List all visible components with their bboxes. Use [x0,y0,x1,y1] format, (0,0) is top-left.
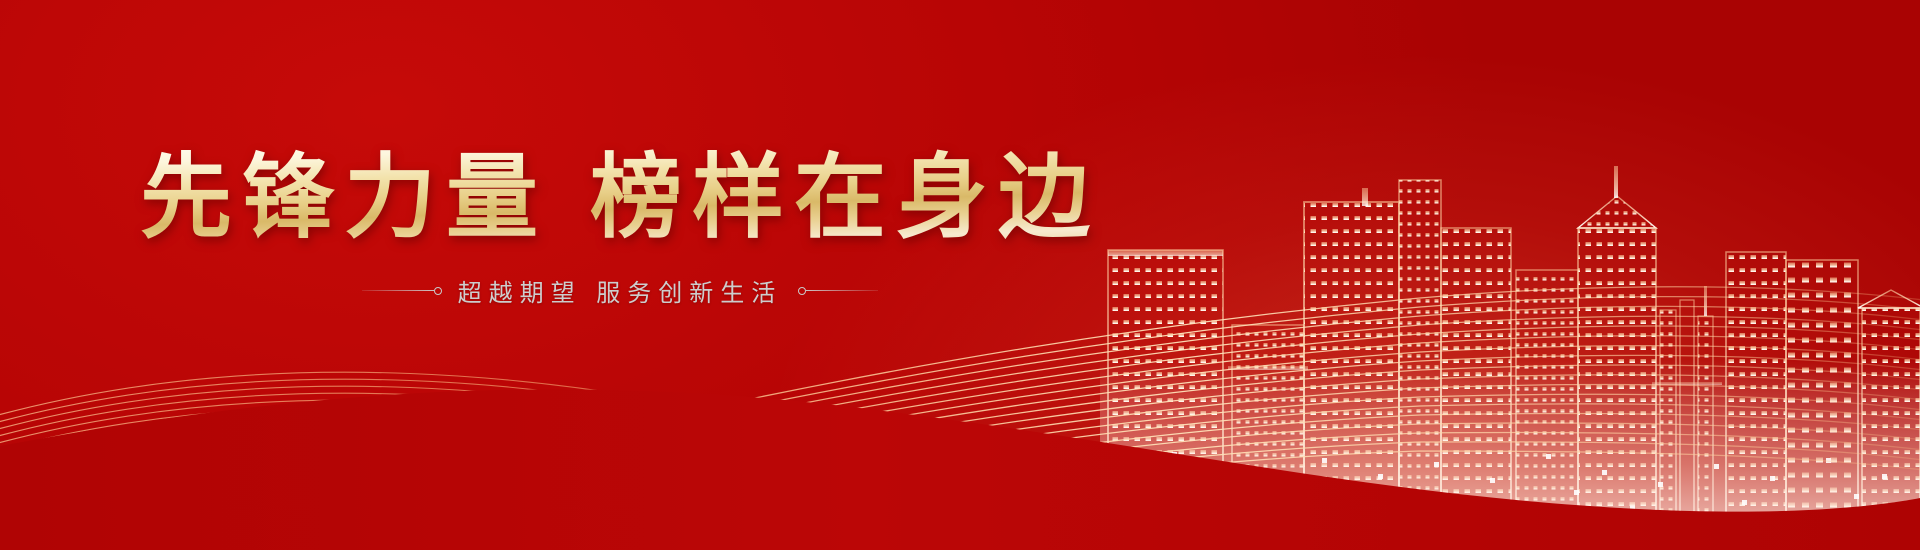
ornament-circle [798,287,806,295]
circle-line-ornament [798,287,878,295]
subtitle-row: 超越期望 服务创新生活 [0,273,1240,308]
bottom-red-wave [0,350,1920,550]
ornament-line [806,290,878,291]
ornament-circle [434,287,442,295]
page-title: 先锋力量 榜样在身边 [0,148,1240,247]
ornament-line [362,290,434,291]
headline-block: 先锋力量 榜样在身边 超越期望 服务创新生活 [0,148,1240,308]
line-circle-ornament [362,287,442,295]
subtitle-text: 超越期望 服务创新生活 [458,273,783,308]
promotional-banner: 先锋力量 榜样在身边 超越期望 服务创新生活 [0,0,1920,550]
